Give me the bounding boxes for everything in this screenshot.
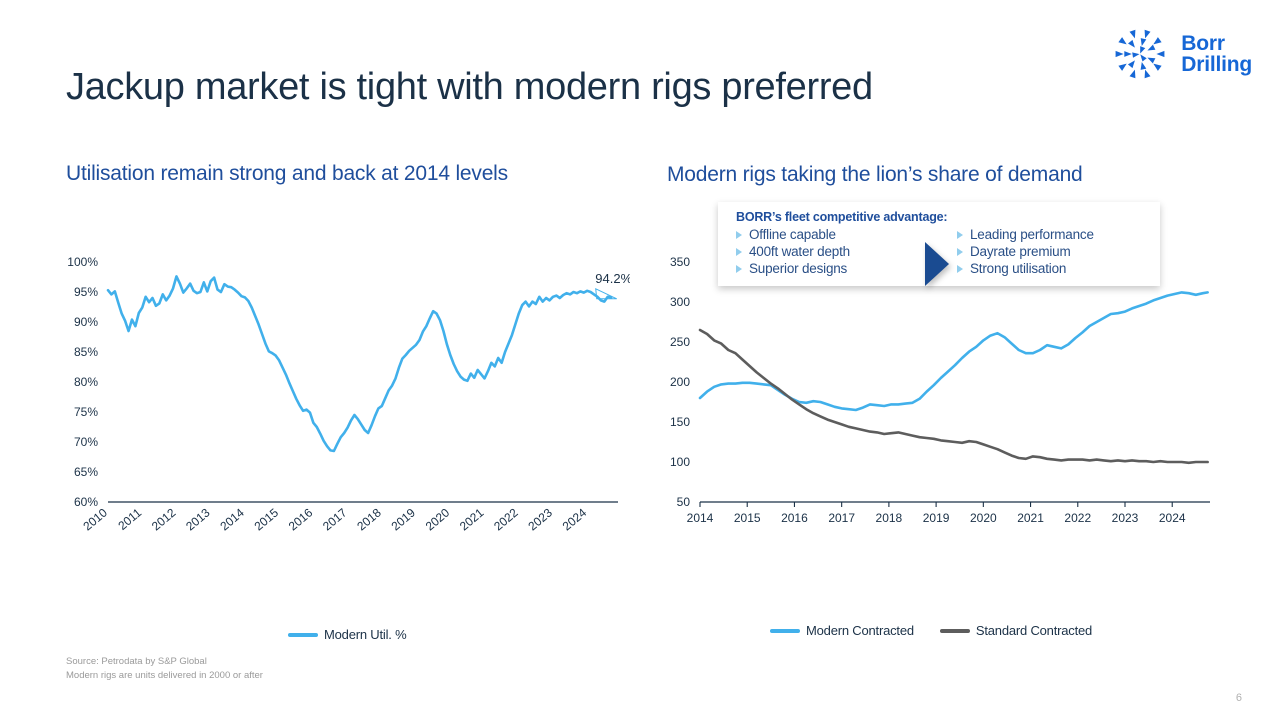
triangle-bullet-icon [957, 231, 963, 239]
logo-wordmark: Borr Drilling [1181, 33, 1252, 76]
svg-text:2022: 2022 [491, 505, 521, 533]
svg-text:2024: 2024 [560, 505, 590, 533]
svg-text:2018: 2018 [354, 505, 384, 533]
source-note: Source: Petrodata by S&P Global Modern r… [66, 655, 263, 683]
slide: Borr Drilling Jackup market is tight wit… [0, 0, 1280, 720]
svg-text:250: 250 [670, 335, 690, 349]
list-item-label: Leading performance [970, 227, 1094, 242]
borr-drilling-logo: Borr Drilling [1109, 24, 1252, 84]
svg-text:70%: 70% [74, 435, 98, 449]
svg-text:2015: 2015 [734, 511, 761, 525]
list-item: Offline capable [736, 226, 943, 243]
borr-logo-mark-icon [1109, 24, 1171, 84]
svg-text:60%: 60% [74, 495, 98, 509]
svg-text:2021: 2021 [1017, 511, 1044, 525]
svg-text:94.2%: 94.2% [595, 271, 630, 286]
svg-text:2022: 2022 [1064, 511, 1091, 525]
contracted-rigs-chart: 5010015020025030035020142015201620172018… [650, 248, 1225, 588]
left-panel-subtitle: Utilisation remain strong and back at 20… [66, 162, 508, 186]
source-line-2: Modern rigs are units delivered in 2000 … [66, 669, 263, 683]
svg-text:2015: 2015 [252, 505, 282, 533]
svg-text:90%: 90% [74, 315, 98, 329]
svg-text:50: 50 [677, 495, 691, 509]
svg-text:65%: 65% [74, 465, 98, 479]
legend-swatch-icon [770, 629, 800, 633]
svg-text:75%: 75% [74, 405, 98, 419]
svg-text:100%: 100% [67, 255, 98, 269]
callout-heading: BORR’s fleet competitive advantage: [736, 210, 1150, 224]
utilisation-chart-plot: 60%65%70%75%80%85%90%95%100%201020112012… [50, 248, 630, 588]
svg-text:2012: 2012 [149, 505, 179, 533]
svg-text:2011: 2011 [115, 505, 144, 533]
svg-text:2020: 2020 [970, 511, 997, 525]
legend-item: Modern Contracted [770, 623, 914, 638]
svg-text:2016: 2016 [781, 511, 808, 525]
legend-swatch-icon [940, 629, 970, 633]
svg-text:2010: 2010 [80, 505, 110, 533]
utilisation-chart-legend: Modern Util. % [288, 627, 406, 642]
triangle-bullet-icon [736, 231, 742, 239]
svg-text:300: 300 [670, 295, 690, 309]
contracted-rigs-chart-legend: Modern Contracted Standard Contracted [770, 623, 1092, 638]
svg-text:200: 200 [670, 375, 690, 389]
svg-text:350: 350 [670, 255, 690, 269]
logo-line-2: Drilling [1181, 54, 1252, 75]
svg-text:80%: 80% [74, 375, 98, 389]
svg-text:2021: 2021 [457, 505, 487, 533]
svg-text:2014: 2014 [217, 505, 247, 533]
list-item: Leading performance [957, 226, 1150, 243]
page-title: Jackup market is tight with modern rigs … [66, 66, 873, 109]
svg-text:2017: 2017 [320, 505, 350, 533]
legend-item: Modern Util. % [288, 627, 406, 642]
legend-item-label: Modern Util. % [324, 627, 406, 642]
list-item-label: Offline capable [749, 227, 836, 242]
source-line-1: Source: Petrodata by S&P Global [66, 655, 263, 669]
svg-text:2019: 2019 [923, 511, 950, 525]
svg-text:100: 100 [670, 455, 690, 469]
svg-text:2023: 2023 [1112, 511, 1139, 525]
svg-text:2024: 2024 [1159, 511, 1186, 525]
legend-item-label: Standard Contracted [976, 623, 1092, 638]
page-number: 6 [1236, 692, 1242, 704]
right-panel-subtitle: Modern rigs taking the lion’s share of d… [667, 163, 1083, 187]
svg-text:150: 150 [670, 415, 690, 429]
svg-text:95%: 95% [74, 285, 98, 299]
svg-text:2014: 2014 [687, 511, 714, 525]
svg-text:2018: 2018 [876, 511, 903, 525]
svg-text:2017: 2017 [828, 511, 855, 525]
legend-item: Standard Contracted [940, 623, 1092, 638]
svg-text:2020: 2020 [423, 505, 453, 533]
svg-text:2016: 2016 [286, 505, 316, 533]
legend-item-label: Modern Contracted [806, 623, 914, 638]
svg-text:85%: 85% [74, 345, 98, 359]
svg-text:2013: 2013 [183, 505, 213, 533]
svg-text:2023: 2023 [525, 505, 555, 533]
svg-text:2019: 2019 [389, 505, 419, 533]
utilisation-chart: 60%65%70%75%80%85%90%95%100%201020112012… [50, 248, 630, 588]
logo-line-1: Borr [1181, 33, 1252, 54]
contracted-rigs-chart-plot: 5010015020025030035020142015201620172018… [650, 248, 1225, 588]
legend-swatch-icon [288, 633, 318, 637]
